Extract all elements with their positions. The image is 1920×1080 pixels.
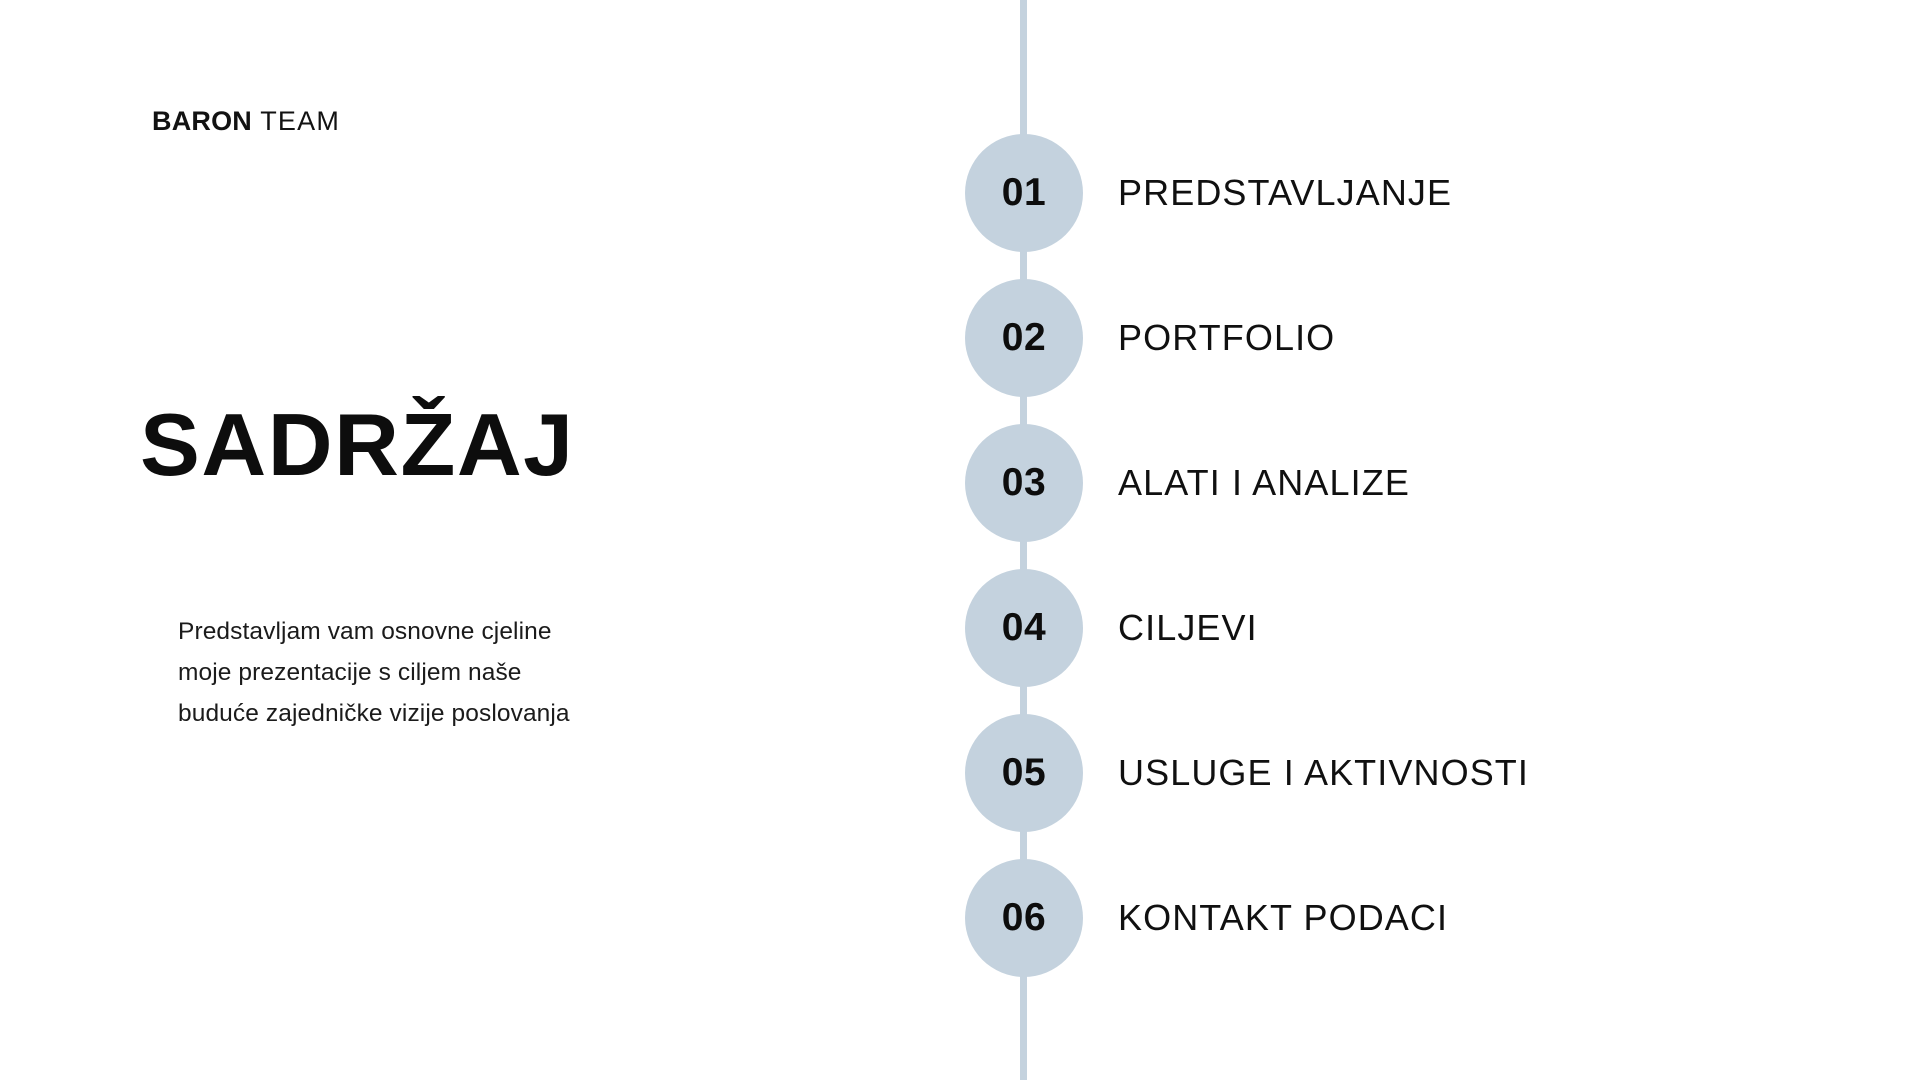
presentation-slide: BARON TEAM SADRŽAJ Predstavljam vam osno…: [0, 0, 1920, 1080]
step-label-01: PREDSTAVLJANJE: [1118, 175, 1452, 211]
step-badge-02: 02: [965, 279, 1083, 397]
step-number-03: 03: [1002, 463, 1046, 502]
step-label-03: ALATI I ANALIZE: [1118, 465, 1410, 501]
step-number-01: 01: [1002, 173, 1046, 212]
step-label-04: CILJEVI: [1118, 610, 1258, 646]
step-badge-03: 03: [965, 424, 1083, 542]
step-badge-01: 01: [965, 134, 1083, 252]
page-title: SADRŽAJ: [140, 399, 575, 491]
intro-line-1: Predstavljam vam osnovne cjeline: [178, 611, 778, 652]
agenda-item-06[interactable]: 06 KONTAKT PODACI: [980, 859, 1448, 977]
agenda-item-02[interactable]: 02 PORTFOLIO: [980, 279, 1335, 397]
step-number-02: 02: [1002, 318, 1046, 357]
step-badge-06: 06: [965, 859, 1083, 977]
agenda-item-03[interactable]: 03 ALATI I ANALIZE: [980, 424, 1410, 542]
slide-left-column: BARON TEAM SADRŽAJ Predstavljam vam osno…: [0, 0, 980, 1080]
intro-line-3: buduće zajedničke vizije poslovanja: [178, 693, 778, 734]
agenda-item-05[interactable]: 05 USLUGE I AKTIVNOSTI: [980, 714, 1529, 832]
intro-line-2: moje prezentacije s ciljem naše: [178, 652, 778, 693]
step-number-06: 06: [1002, 898, 1046, 937]
step-badge-04: 04: [965, 569, 1083, 687]
brand-logo-primary: BARON: [152, 106, 252, 136]
brand-logo: BARON TEAM: [152, 106, 340, 137]
intro-paragraph: Predstavljam vam osnovne cjeline moje pr…: [178, 611, 778, 734]
agenda-item-04[interactable]: 04 CILJEVI: [980, 569, 1258, 687]
step-badge-05: 05: [965, 714, 1083, 832]
brand-logo-secondary: TEAM: [252, 106, 340, 136]
step-number-04: 04: [1002, 608, 1046, 647]
step-number-05: 05: [1002, 753, 1046, 792]
step-label-02: PORTFOLIO: [1118, 320, 1335, 356]
step-label-05: USLUGE I AKTIVNOSTI: [1118, 755, 1529, 791]
agenda-timeline: 01 PREDSTAVLJANJE 02 PORTFOLIO 03 ALATI …: [980, 0, 1920, 1080]
step-label-06: KONTAKT PODACI: [1118, 900, 1448, 936]
agenda-item-01[interactable]: 01 PREDSTAVLJANJE: [980, 134, 1452, 252]
